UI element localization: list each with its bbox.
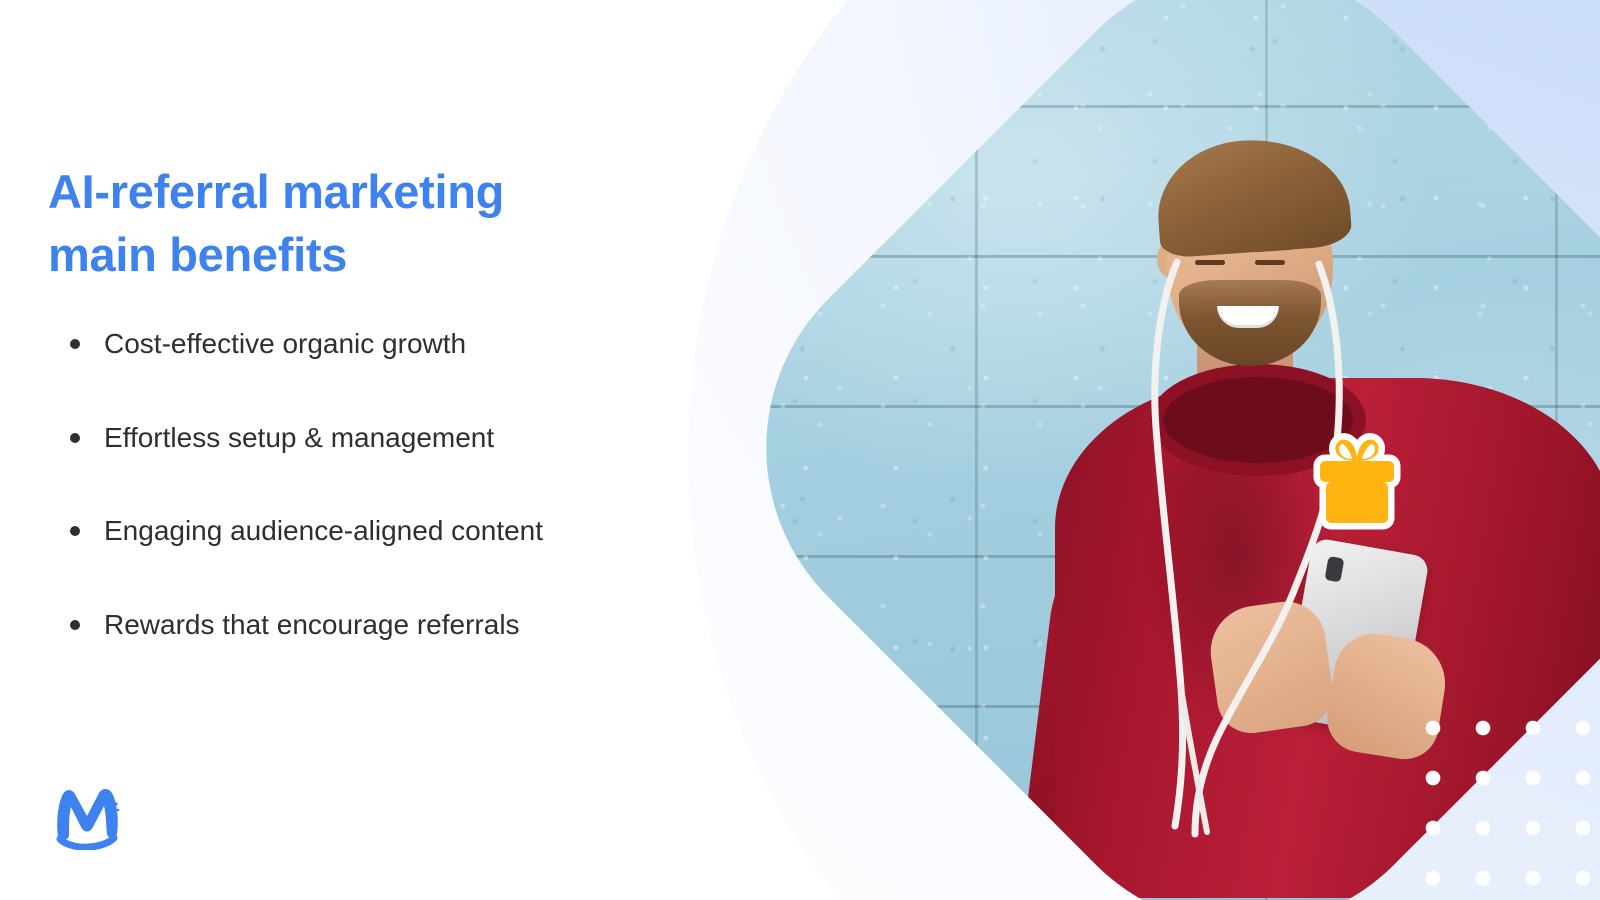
smartphone-camera bbox=[1324, 556, 1344, 582]
page-title: AI-referral marketing main benefits bbox=[48, 160, 668, 287]
list-item-label: Rewards that encourage referrals bbox=[104, 609, 520, 640]
page-title-line-2: main benefits bbox=[48, 228, 347, 281]
benefits-list: Cost-effective organic growth Effortless… bbox=[62, 327, 682, 641]
person-figure bbox=[845, 48, 1600, 848]
list-item: Engaging audience-aligned content bbox=[62, 514, 682, 548]
bullet-dot-icon bbox=[70, 526, 80, 536]
list-item: Rewards that encourage referrals bbox=[62, 608, 682, 642]
page-title-line-1: AI-referral marketing bbox=[48, 165, 504, 218]
bullet-dot-icon bbox=[70, 339, 80, 349]
hero-photo-inner bbox=[845, 48, 1600, 848]
logo-m-mark bbox=[46, 776, 130, 850]
list-item-label: Effortless setup & management bbox=[104, 422, 494, 453]
list-item-label: Cost-effective organic growth bbox=[104, 328, 466, 359]
gift-box-icon bbox=[1303, 428, 1411, 536]
list-item: Effortless setup & management bbox=[62, 421, 682, 455]
bullet-dot-icon bbox=[70, 620, 80, 630]
bullet-dot-icon bbox=[70, 433, 80, 443]
list-item-label: Engaging audience-aligned content bbox=[104, 515, 543, 546]
person-eye-left bbox=[1195, 260, 1225, 265]
person-eye-right bbox=[1255, 260, 1285, 265]
hero-photo bbox=[679, 0, 1600, 900]
person-hair bbox=[1153, 133, 1352, 258]
text-column: AI-referral marketing main benefits Cost… bbox=[0, 0, 700, 900]
person-hand-left bbox=[1205, 597, 1337, 738]
slide-canvas: AI-referral marketing main benefits Cost… bbox=[0, 0, 1600, 900]
list-item: Cost-effective organic growth bbox=[62, 327, 682, 361]
